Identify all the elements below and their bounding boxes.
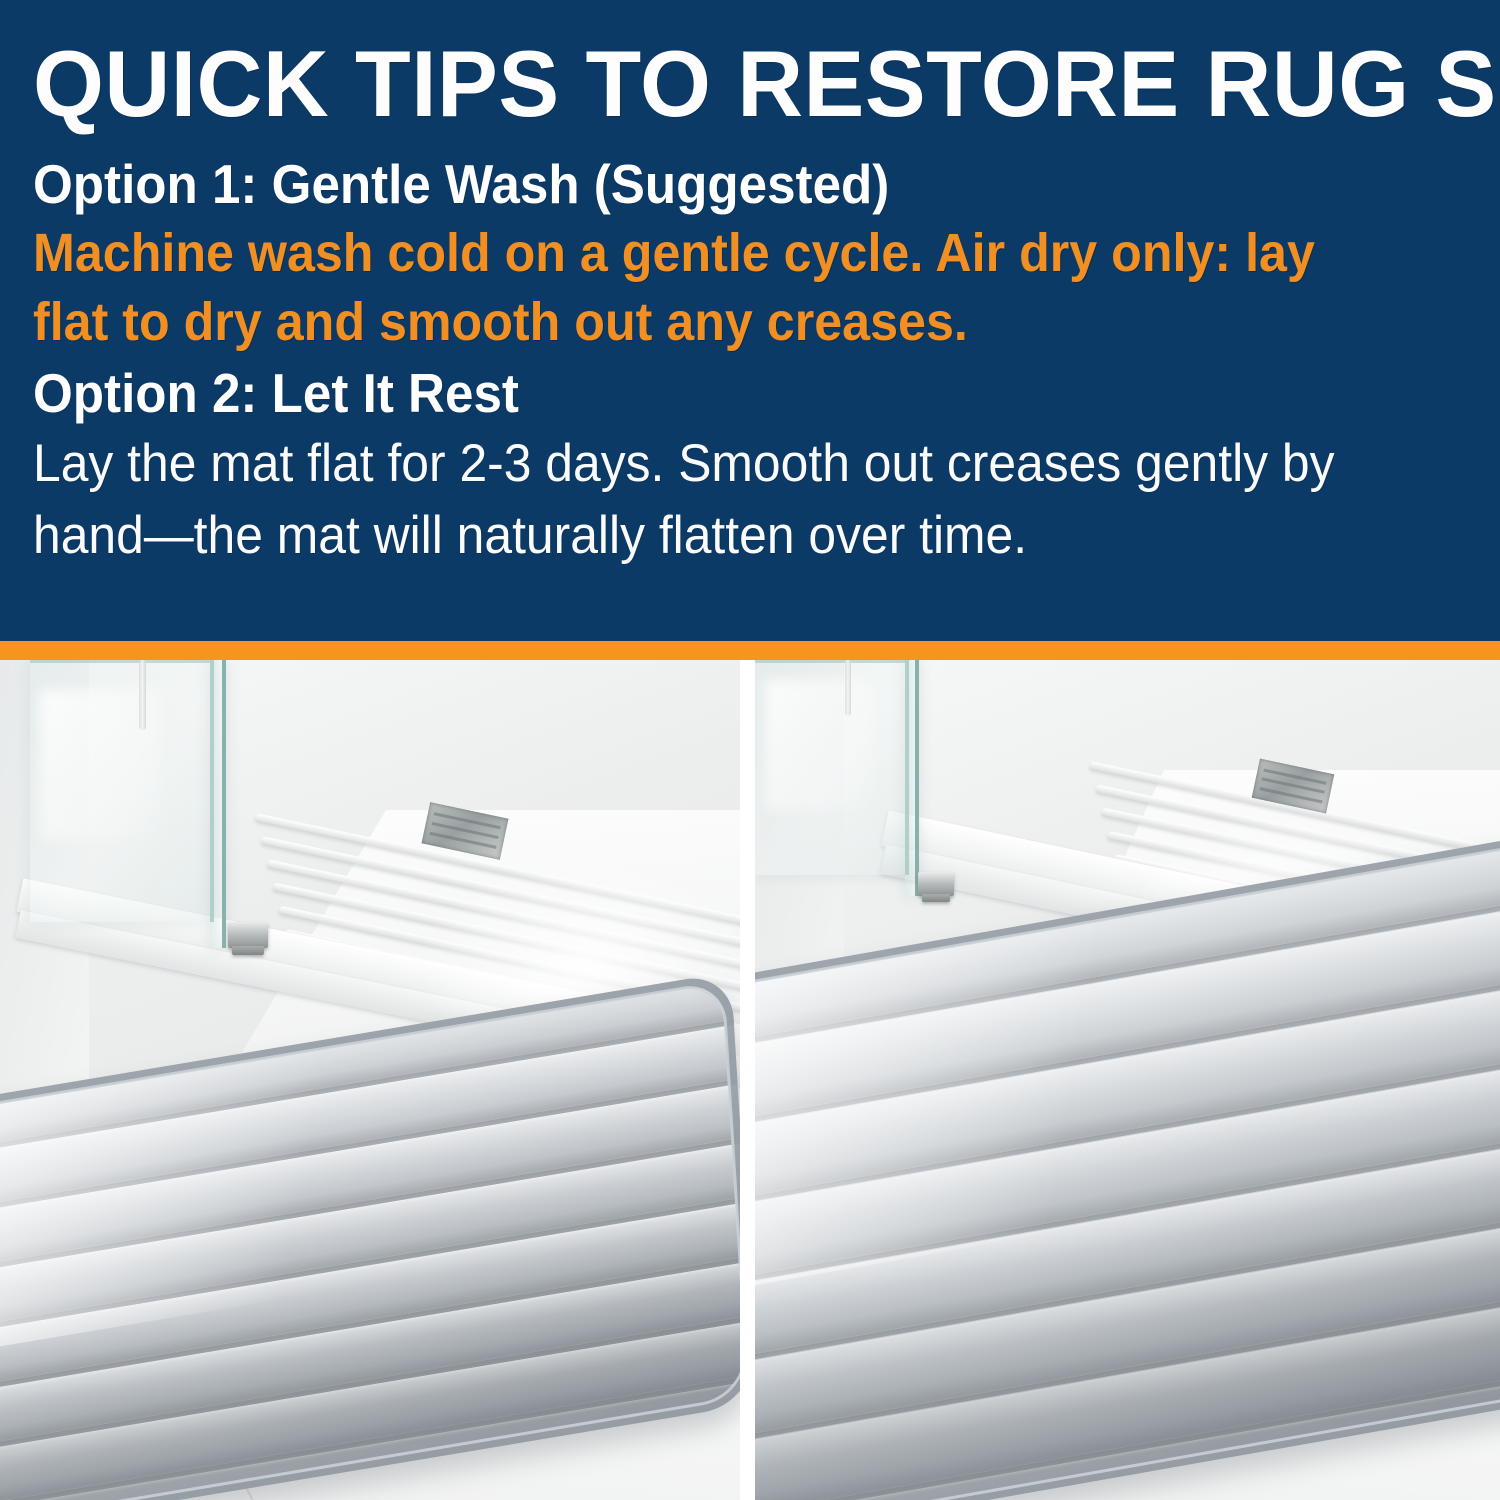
glass-edge (30, 660, 210, 663)
glass-reflection (765, 680, 875, 810)
shower-glass-panel-door (905, 660, 919, 896)
photo-right-bath-mat-close (755, 660, 1500, 1500)
glass-door-hinge-base (232, 946, 264, 955)
orange-divider-rule (0, 641, 1500, 660)
option-1-body: Machine wash cold on a gentle cycle. Air… (33, 219, 1369, 356)
instruction-panel: QUICK TIPS TO RESTORE RUG SHAPE Option 1… (0, 0, 1500, 641)
instruction-panel-content: QUICK TIPS TO RESTORE RUG SHAPE Option 1… (33, 36, 1470, 571)
glass-door-hinge (228, 922, 268, 948)
bathroom-scene-right (755, 660, 1500, 1500)
photo-comparison-strip (0, 660, 1500, 1500)
option-2-body: Lay the mat flat for 2-3 days. Smooth ou… (33, 428, 1384, 571)
bathroom-scene-left (0, 660, 740, 1500)
shower-fixture-pole (845, 660, 851, 716)
infographic-root: QUICK TIPS TO RESTORE RUG SHAPE Option 1… (0, 0, 1500, 1500)
glass-door-hinge (918, 872, 954, 896)
option-1-title: Option 1: Gentle Wash (Suggested) (33, 154, 1369, 216)
photo-divider (740, 660, 755, 1500)
shower-glass-panel-door (210, 660, 226, 948)
shower-fixture-pole (139, 660, 146, 730)
page-title: QUICK TIPS TO RESTORE RUG SHAPE (33, 36, 1427, 132)
photo-left-bath-mat-wide (0, 660, 740, 1500)
glass-door-hinge-base (922, 894, 950, 902)
glass-edge (755, 660, 905, 663)
option-2-title: Option 2: Let It Rest (33, 363, 1369, 425)
